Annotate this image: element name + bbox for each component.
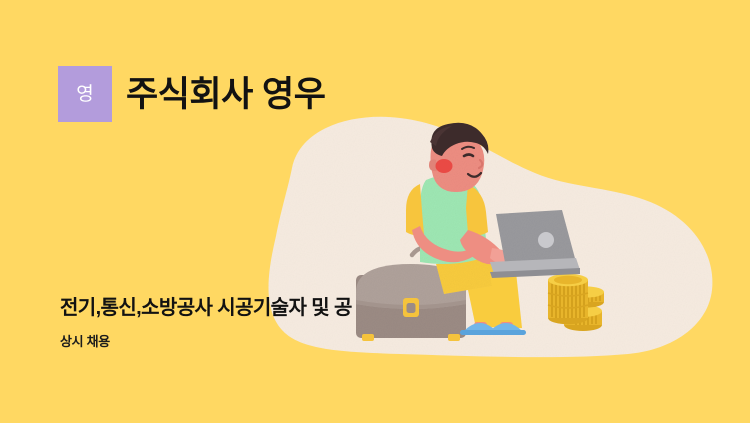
job-posting-banner: 영 주식회사 영우 전기,통신,소방공사 시공기술자 및 공 상시 채용: [0, 0, 750, 423]
company-initial-badge: 영: [58, 66, 112, 122]
laptop-icon: [490, 210, 580, 278]
hiring-status-label: 상시 채용: [60, 335, 352, 348]
company-name: 주식회사 영우: [126, 77, 325, 112]
posting-copy: 전기,통신,소방공사 시공기술자 및 공 상시 채용: [60, 296, 352, 348]
man-with-laptop-illustration: [340, 122, 630, 342]
company-initial-label: 영: [76, 85, 93, 104]
job-title: 전기,통신,소방공사 시공기술자 및 공: [60, 296, 352, 321]
coin-stack-icon: [548, 274, 604, 331]
company-header: 영 주식회사 영우: [58, 66, 325, 122]
